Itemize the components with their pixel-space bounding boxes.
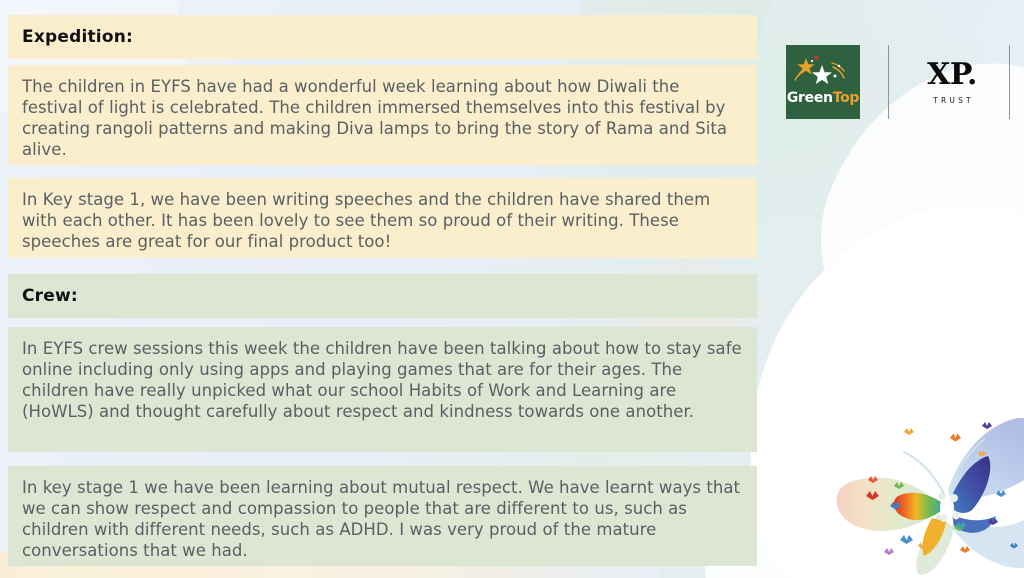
expedition-paragraph-2: In Key stage 1, we have been writing spe… (22, 189, 743, 252)
crew-paragraph-2: In key stage 1 we have been learning abo… (22, 477, 743, 561)
greentop-word-top: Top (833, 90, 859, 106)
greentop-wordmark: GreenTop (787, 90, 859, 106)
xp-trust-subtitle: TRUST (930, 96, 974, 105)
logo-divider-left (888, 45, 889, 119)
greentop-stars-icon (786, 54, 860, 88)
greentop-logo: GreenTop (786, 45, 860, 119)
xp-trust-logo: XP. TRUST (917, 45, 987, 119)
content-blocks: Expedition: The children in EYFS have ha… (8, 0, 757, 578)
expedition-heading: Expedition: (22, 27, 133, 47)
crew-paragraph-2-block: In key stage 1 we have been learning abo… (8, 466, 757, 566)
expedition-paragraph-2-block: In Key stage 1, we have been writing spe… (8, 178, 757, 258)
greentop-word-green: Green (787, 90, 833, 106)
slide-canvas: Expedition: The children in EYFS have ha… (0, 0, 1024, 578)
expedition-heading-block: Expedition: (8, 15, 757, 59)
crew-paragraph-1-block: In EYFS crew sessions this week the chil… (8, 327, 757, 452)
expedition-paragraph-1-block: The children in EYFS have had a wonderfu… (8, 65, 757, 165)
crew-heading: Crew: (22, 286, 78, 306)
crew-paragraph-1: In EYFS crew sessions this week the chil… (22, 338, 743, 422)
xp-trust-mark: XP. (927, 60, 977, 90)
logo-bar: GreenTop XP. TRUST (786, 45, 1010, 119)
crew-heading-block: Crew: (8, 274, 757, 318)
expedition-paragraph-1: The children in EYFS have had a wonderfu… (22, 76, 743, 160)
logo-divider-right (1009, 45, 1010, 119)
